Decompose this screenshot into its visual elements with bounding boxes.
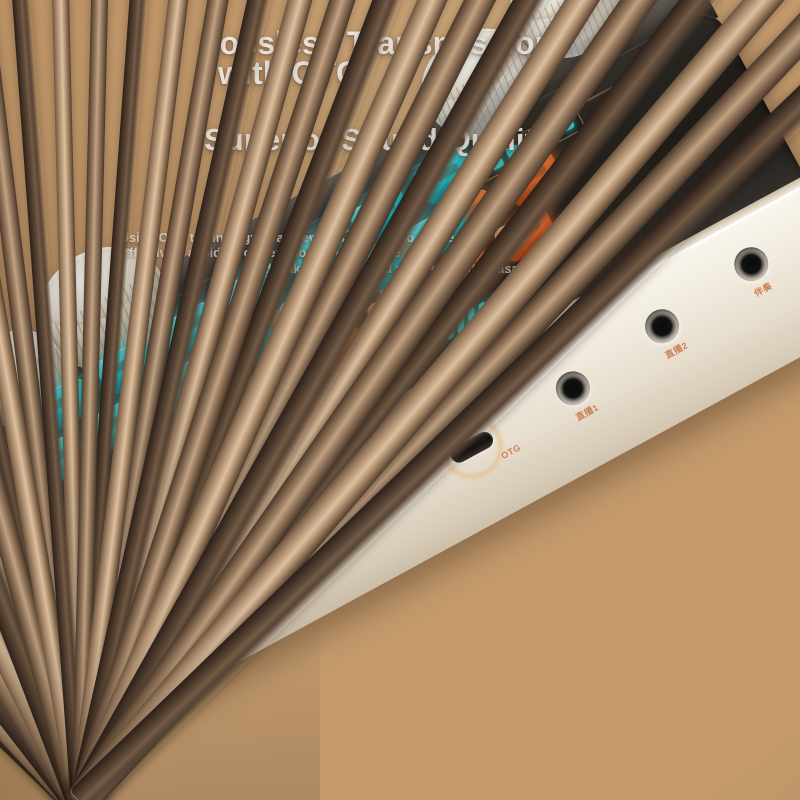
product-marketing-image: OTG 直播1 直播2 伴奏 Lossless Transmission wit… bbox=[0, 0, 800, 800]
